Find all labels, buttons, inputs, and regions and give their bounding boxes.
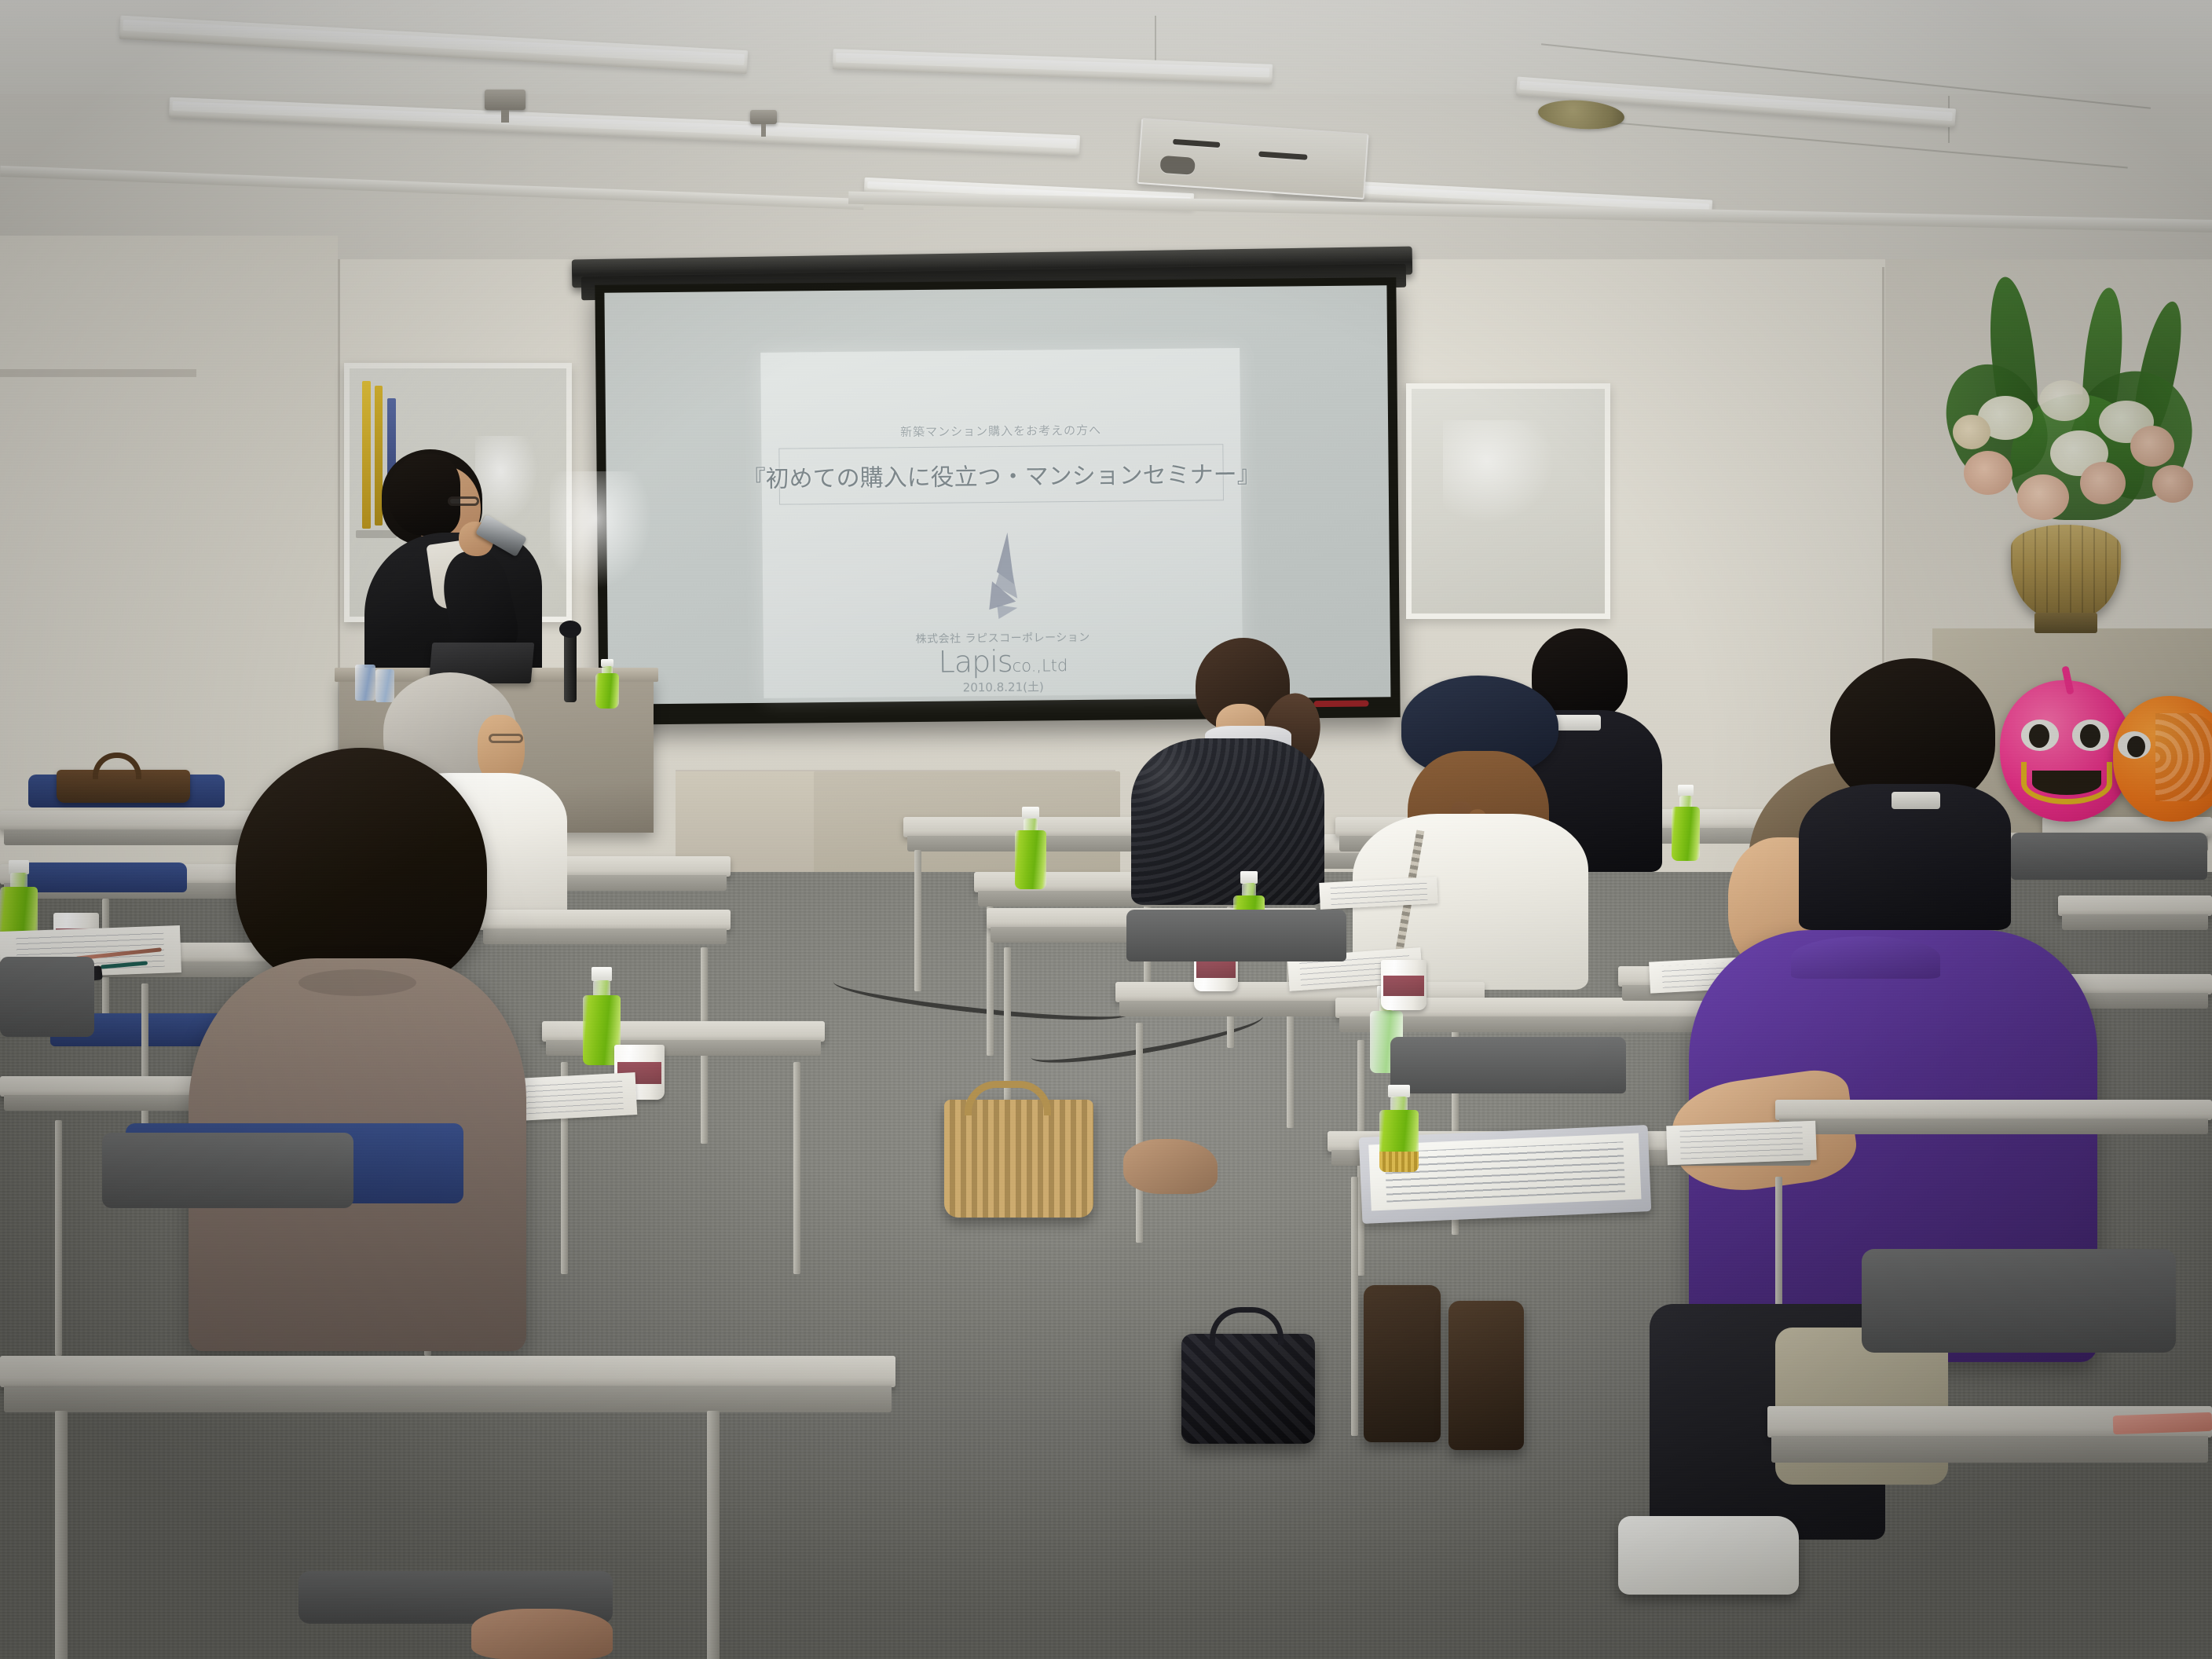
attendee-boot [1364, 1285, 1441, 1442]
attendee-boot [1448, 1301, 1524, 1450]
grey-stacking-chair[interactable] [1862, 1249, 2176, 1422]
shirt-collar [1892, 792, 1940, 809]
polo-collar [1791, 936, 1940, 979]
projector-glare [550, 471, 652, 589]
green-tea-bottle [1015, 808, 1046, 889]
grey-stacking-chair[interactable] [102, 1133, 353, 1258]
blue-stacking-chair[interactable] [22, 862, 187, 913]
ceiling-tile-seam [1580, 119, 2128, 168]
slide-kicker-text: 新築マンション購入をお考えの方へ [761, 420, 1240, 441]
slide-company-en-main: Lapis [938, 644, 1012, 679]
black-quilted-handbag [1181, 1334, 1315, 1444]
flower-vase [2011, 525, 2121, 619]
attendee-jacket [1131, 738, 1324, 905]
fire-sprinkler-icon [750, 110, 777, 124]
attendee-hair [236, 748, 487, 991]
grey-stacking-chair[interactable] [0, 957, 94, 1090]
straw-tote-bag [944, 1100, 1093, 1218]
attendee-foot [471, 1609, 613, 1659]
green-tea-bottle [1379, 1086, 1419, 1172]
vase-foot [2034, 613, 2097, 633]
ceiling-speaker-icon [1537, 97, 1625, 132]
attendee-woman-navy-beret [1353, 676, 1620, 990]
folding-seminar-desk [0, 1356, 895, 1419]
seminar-room-photo: 新築マンション購入をお考えの方へ 『初めての購入に役立つ・マンションセミナー』 … [0, 0, 2212, 1659]
slide-title-box: 『初めての購入に役立つ・マンションセミナー』 [778, 444, 1224, 504]
paper-coffee-cup [1381, 960, 1426, 1010]
grey-stacking-chair[interactable] [1390, 1037, 1626, 1131]
slide-title-text: 『初めての購入に役立つ・マンションセミナー』 [742, 455, 1260, 494]
presenter-hair-front [388, 454, 460, 536]
recessed-fluorescent-light [169, 97, 1080, 156]
grey-stacking-chair[interactable] [1126, 910, 1346, 996]
slide-company-en-suffix: co.,Ltd [1013, 656, 1068, 676]
attendee-man-dark-polo-back [1799, 658, 2034, 917]
seminar-handout-paper [1666, 1121, 1817, 1166]
tshirt-collar [298, 969, 416, 996]
wall-trim [0, 369, 196, 377]
orange-koinobori-mascot [2113, 696, 2212, 822]
mascot-scales [2155, 713, 2212, 801]
fire-sprinkler-icon [485, 90, 526, 110]
ceiling-soffit-edge [0, 166, 864, 210]
glasses-icon [489, 734, 523, 743]
glasses-icon [448, 496, 479, 506]
attendee-woman-dark-jacket-ponytail [1131, 638, 1359, 905]
microphone-stand-head [559, 621, 581, 638]
lapis-sail-logo-icon [968, 529, 1036, 624]
attendee-leg [1123, 1139, 1218, 1194]
whiteboard-glare [1443, 420, 1553, 522]
attendee-sneaker [1618, 1516, 1799, 1595]
bottle-label [1379, 1152, 1419, 1172]
green-tea-bottle [595, 660, 619, 709]
hvac-vent-icon [1137, 118, 1368, 200]
seminar-handout-paper [2113, 1412, 2212, 1434]
whiteboard-right [1406, 383, 1610, 619]
flower-arrangement [1917, 276, 2212, 646]
folding-seminar-desk [1775, 1100, 2212, 1148]
